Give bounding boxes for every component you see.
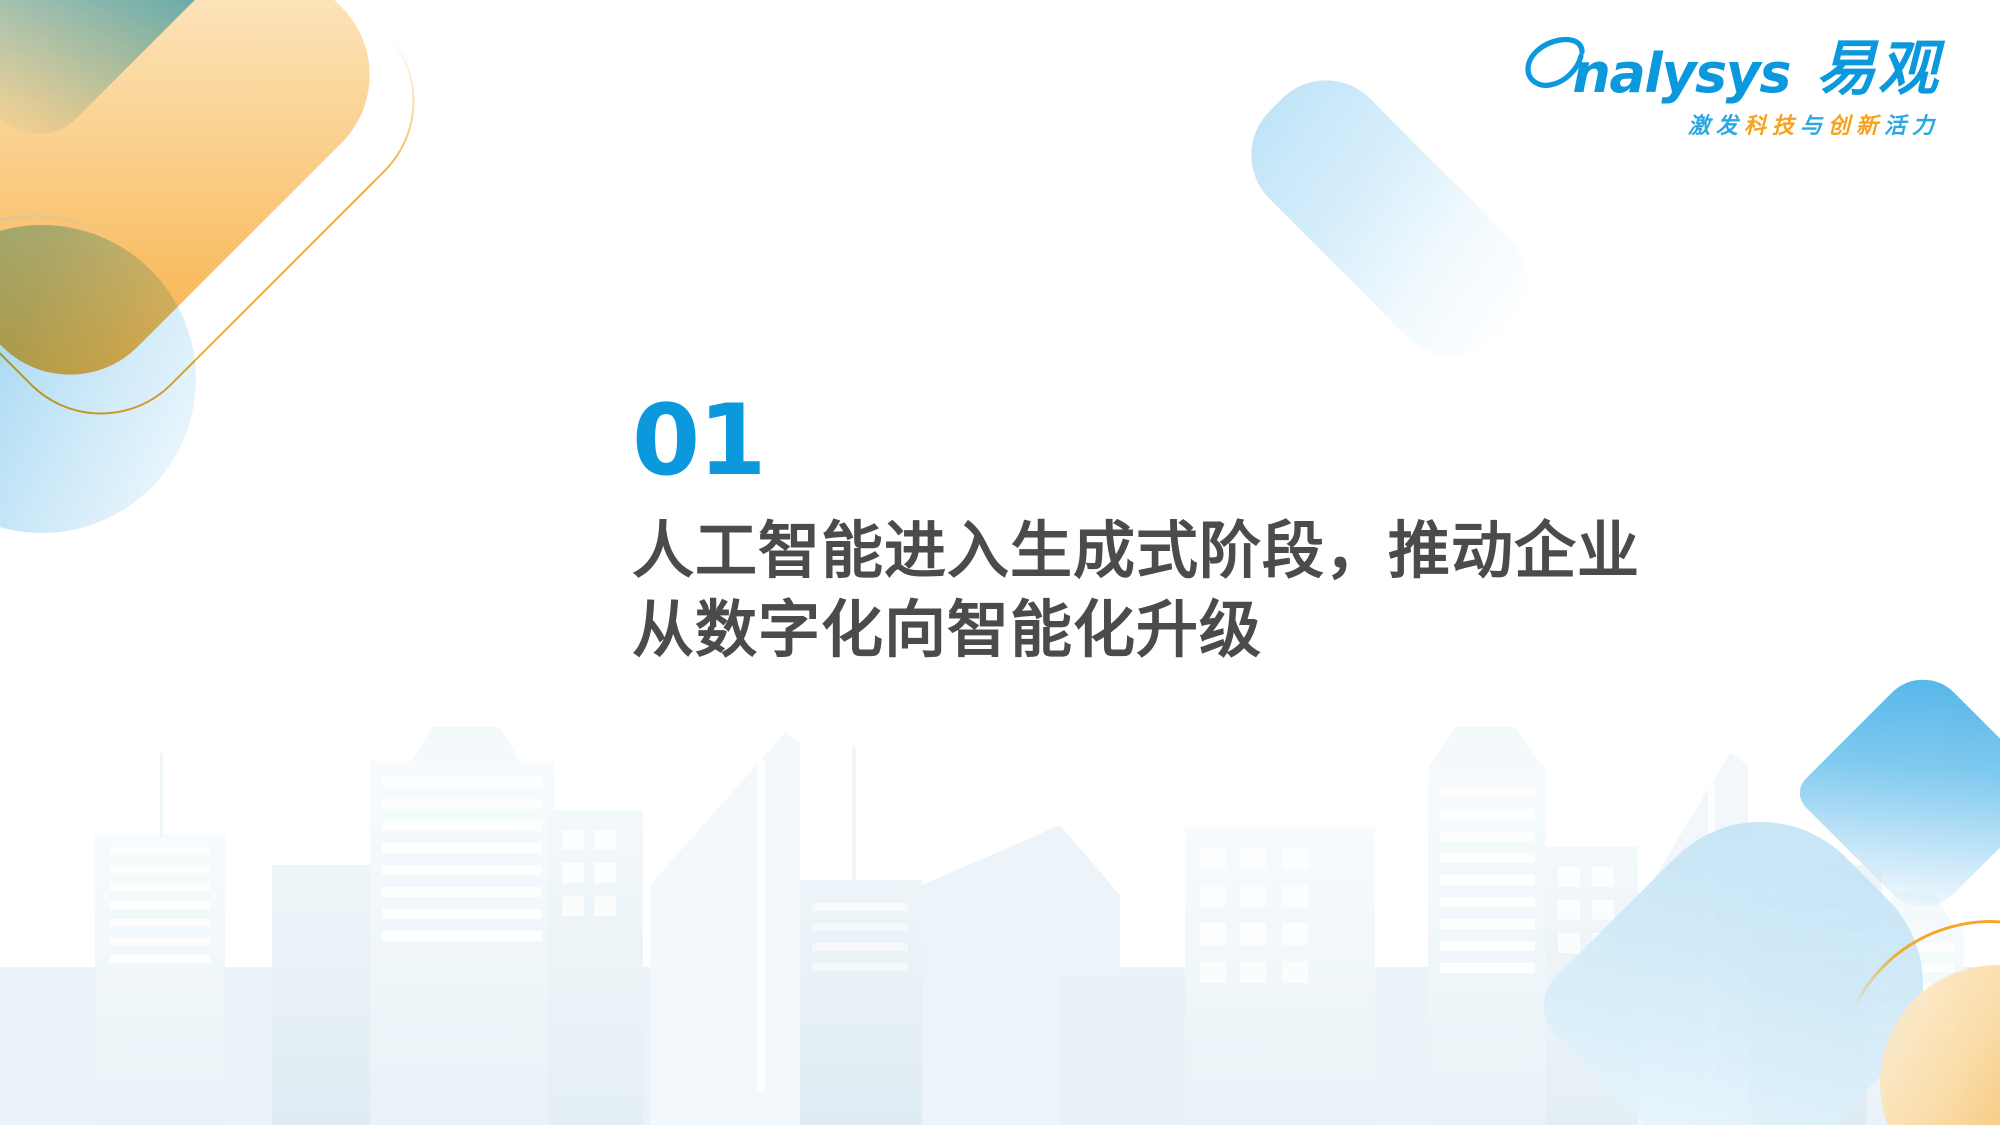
logo-wordmark-row: nalysys 易观 <box>1524 36 1940 101</box>
section-title-line-1: 人工智能进入生成式阶段，推动企业 <box>632 512 1792 591</box>
orange-arc-outline <box>1838 920 2000 1125</box>
blue-circle-outline <box>0 215 188 523</box>
blue-circle-shape <box>0 225 196 533</box>
pale-blue-rounded-bar-shape <box>1226 55 1553 382</box>
orange-chevron-outline <box>0 0 456 456</box>
section-divider-content: 01 人工智能进入生成式阶段，推动企业 从数字化向智能化升级 <box>632 392 1792 671</box>
logo-latin-text: nalysys <box>1572 47 1790 101</box>
blue-chevron-shape <box>1791 661 2000 924</box>
section-number: 01 <box>632 392 1792 490</box>
pale-blue-slab-shape <box>1527 772 1972 1125</box>
logo-latin-wordmark: nalysys <box>1524 36 1790 101</box>
logo-tagline: 激发科技与创新活力 <box>1524 115 1940 137</box>
tagline-part-5: 活力 <box>1884 113 1940 138</box>
tagline-part-2: 科技 <box>1744 113 1800 138</box>
tagline-part-1: 激发 <box>1688 113 1744 138</box>
orange-chevron-shape <box>0 0 409 414</box>
logo-chinese-text: 易观 <box>1816 39 1940 99</box>
tagline-part-3: 与 <box>1800 113 1828 138</box>
tagline-part-4: 创新 <box>1828 113 1884 138</box>
orange-circle-shape <box>1880 965 2000 1125</box>
brand-logo: nalysys 易观 激发科技与创新活力 <box>1524 36 1940 137</box>
blue-rounded-bar-shape <box>0 0 293 157</box>
slide-canvas: nalysys 易观 激发科技与创新活力 01 人工智能进入生成式阶段，推动企业… <box>0 0 2000 1125</box>
city-skyline-silhouette <box>0 705 2000 1125</box>
section-title-line-2: 从数字化向智能化升级 <box>632 591 1792 670</box>
page-title: 人工智能进入生成式阶段，推动企业 从数字化向智能化升级 <box>632 512 1792 671</box>
